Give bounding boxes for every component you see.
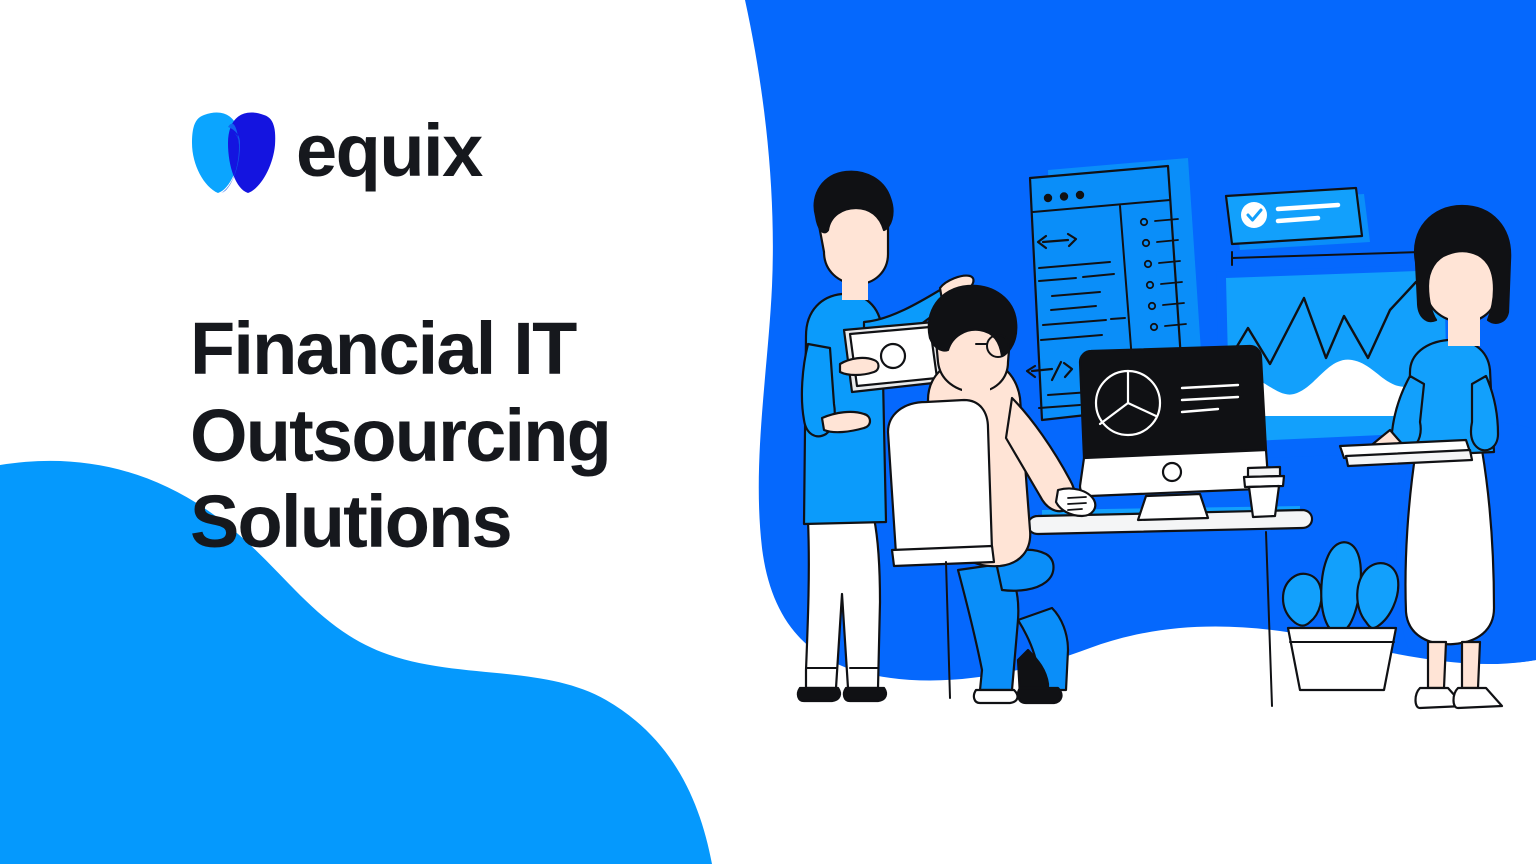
desk <box>1028 506 1312 706</box>
it-team-workspace-illustration <box>780 150 1536 750</box>
brand-logo[interactable]: equix <box>190 105 482 197</box>
potted-plant <box>1283 542 1398 690</box>
check-circle-icon <box>1241 202 1267 228</box>
notification-card <box>1226 188 1370 250</box>
headline-line-3: Solutions <box>190 479 750 566</box>
page-title: Financial IT Outsourcing Solutions <box>190 306 750 566</box>
headline-line-2: Outsourcing <box>190 393 750 480</box>
brand-wordmark: equix <box>296 114 482 188</box>
equix-petal-logo-icon <box>190 105 278 197</box>
hero-banner: equix Financial IT Outsourcing Solutions <box>0 0 1536 864</box>
headline-line-1: Financial IT <box>190 306 750 393</box>
monitor <box>1080 346 1268 520</box>
